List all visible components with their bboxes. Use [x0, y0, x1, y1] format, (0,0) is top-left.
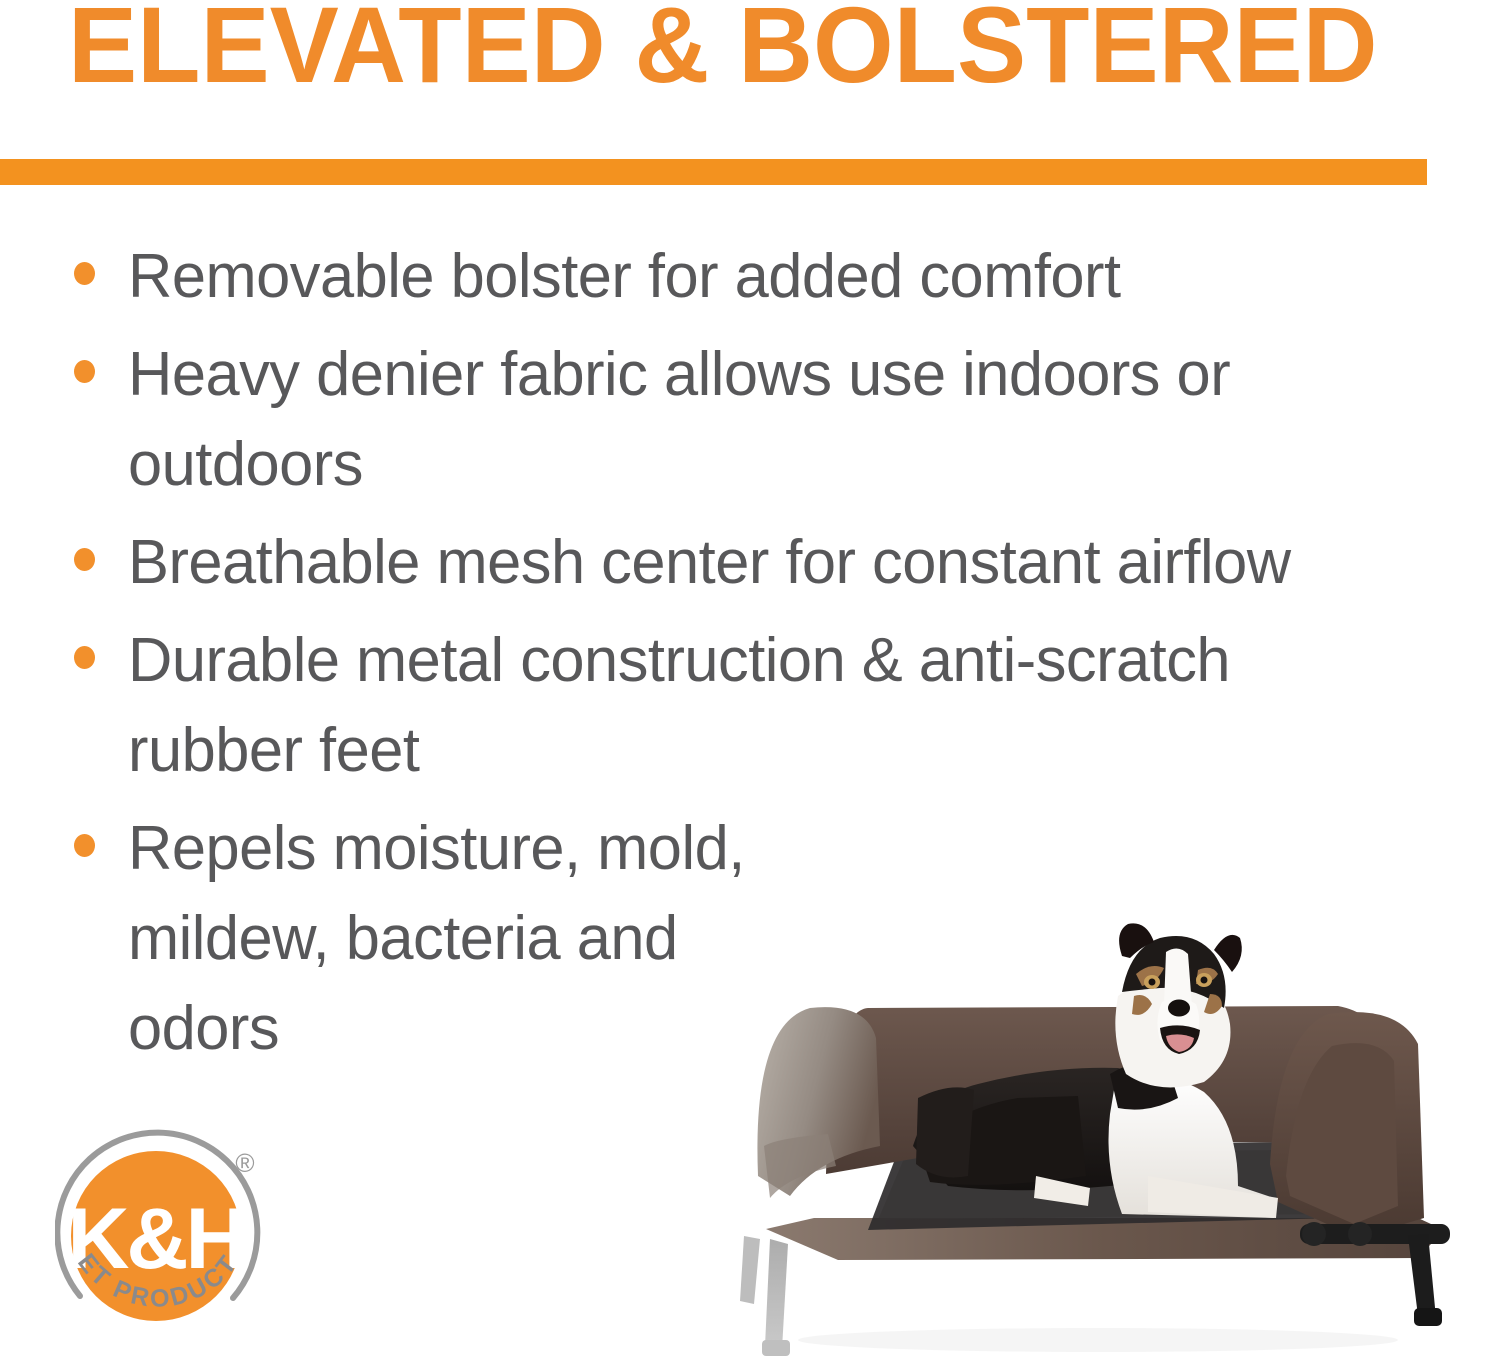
bed-leg-front-right-icon [1408, 1234, 1442, 1326]
list-item: Breathable mesh center for constant airf… [0, 518, 1470, 608]
feature-text: Durable metal construction & anti-scratc… [128, 616, 1346, 796]
brand-logo: K&H ® PET PRODUCTS [55, 1128, 280, 1359]
feature-text: Heavy denier fabric allows use indoors o… [128, 330, 1346, 510]
dog-rear-fringe [916, 1087, 974, 1177]
feature-text: Removable bolster for added comfort [128, 232, 1346, 322]
feature-text: Repels moisture, mold, mildew, bacteria … [128, 804, 762, 1074]
bullet-dot-icon [74, 548, 95, 571]
product-infographic: ELEVATED & BOLSTERED Removable bolster f… [0, 0, 1500, 1359]
feature-text: Breathable mesh center for constant airf… [128, 518, 1457, 608]
bullet-dot-icon [74, 834, 95, 857]
title-divider-rule [0, 159, 1427, 185]
list-item: Removable bolster for added comfort [0, 232, 1470, 322]
product-image [718, 846, 1500, 1359]
list-item: Heavy denier fabric allows use indoors o… [0, 330, 1470, 510]
bullet-dot-icon [74, 360, 95, 383]
bullet-dot-icon [74, 646, 95, 669]
list-item: Durable metal construction & anti-scratc… [0, 616, 1470, 796]
registered-mark-icon: ® [235, 1148, 254, 1178]
bed-leg-rear-left-icon [740, 1236, 760, 1304]
page-title: ELEVATED & BOLSTERED [68, 0, 1374, 104]
bed-leg-front-left-icon [762, 1239, 790, 1356]
bullet-dot-icon [74, 262, 95, 285]
bolster-left-shadow [764, 1134, 836, 1198]
